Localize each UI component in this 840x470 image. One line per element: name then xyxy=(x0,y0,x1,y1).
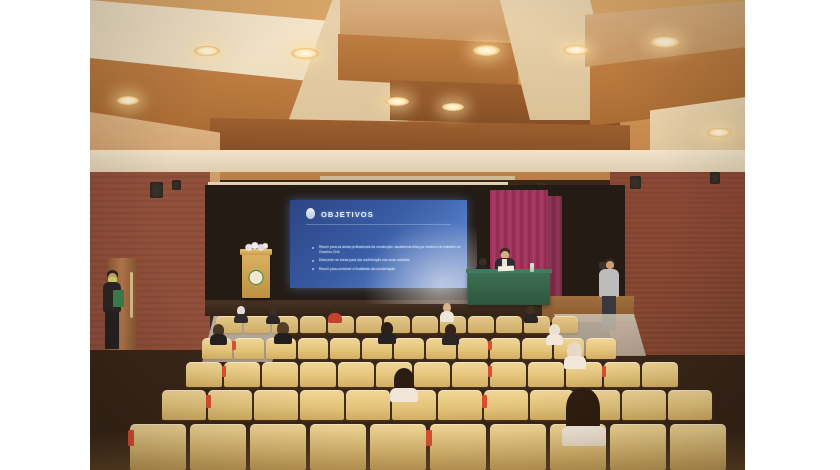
attendee-torso xyxy=(210,334,227,345)
seat[interactable] xyxy=(642,362,678,387)
seat-number-tab xyxy=(206,395,211,408)
seat[interactable] xyxy=(300,362,336,387)
seat[interactable] xyxy=(300,316,326,333)
slide-bullet: Reunir para as áreas profissionais da co… xyxy=(312,245,462,254)
attendee xyxy=(274,322,292,342)
ceiling-light-4 xyxy=(385,97,409,106)
attendee-torso xyxy=(564,356,586,369)
attendee xyxy=(564,342,586,366)
attendee xyxy=(210,324,227,342)
attendee-torso xyxy=(390,388,418,402)
seat[interactable] xyxy=(224,362,260,387)
photographer-head xyxy=(606,261,614,269)
lectern-emblem xyxy=(249,270,264,285)
seat[interactable] xyxy=(490,338,520,359)
seat[interactable] xyxy=(330,338,360,359)
attendee xyxy=(442,324,459,342)
wall-speaker-left xyxy=(150,182,163,198)
water-bottle xyxy=(530,263,534,272)
projection-screen: OBJETIVOS Reunir para as áreas profissio… xyxy=(290,200,467,288)
seat[interactable] xyxy=(622,390,666,420)
wall-speaker-right-2 xyxy=(630,176,641,189)
truss-rail-secondary xyxy=(320,176,515,180)
door-handle-left[interactable] xyxy=(130,272,133,318)
attendee-torso xyxy=(546,334,563,345)
slide-bullet: Reunir para conhecer a finalidade da coo… xyxy=(312,267,462,272)
ceiling-light-2 xyxy=(194,46,220,56)
foreground-floor-shadow xyxy=(90,430,745,470)
ceiling-light-7 xyxy=(563,45,589,55)
attendee-torso xyxy=(234,314,248,323)
seat[interactable] xyxy=(162,390,206,420)
seat[interactable] xyxy=(298,338,328,359)
ceiling-light-9 xyxy=(707,128,731,137)
seat[interactable] xyxy=(346,390,390,420)
seat-number-tab xyxy=(602,366,606,377)
seat[interactable] xyxy=(528,362,564,387)
wall-speaker-right-3 xyxy=(710,172,720,184)
seat[interactable] xyxy=(468,316,494,333)
lectern xyxy=(242,252,270,298)
attendee-torso xyxy=(328,313,342,323)
attendee xyxy=(378,322,396,342)
attendee-legs xyxy=(105,311,119,349)
attendee xyxy=(440,303,454,320)
green-folder xyxy=(113,290,124,307)
seat[interactable] xyxy=(208,390,252,420)
seat-number-tab xyxy=(232,341,236,350)
attendee xyxy=(328,305,342,321)
ceiling-light-6 xyxy=(473,45,500,56)
screenshot-root: OBJETIVOS Reunir para as áreas profissio… xyxy=(0,0,840,470)
seat[interactable] xyxy=(668,390,712,420)
attendee xyxy=(266,307,280,321)
upper-wall-band xyxy=(90,150,745,172)
attendee xyxy=(524,306,538,321)
seat[interactable] xyxy=(414,362,450,387)
seat-number-tab xyxy=(482,395,487,408)
seat-number-tab xyxy=(222,366,226,377)
attendee-torso xyxy=(274,333,292,344)
masked-attendee-by-door xyxy=(100,270,124,354)
slide-bullet: Descrever as áreas para dar contribuição… xyxy=(312,258,462,263)
ceiling-light-8 xyxy=(650,36,680,48)
table-papers xyxy=(498,266,514,272)
seat[interactable] xyxy=(394,338,424,359)
seat[interactable] xyxy=(496,316,522,333)
seat[interactable] xyxy=(458,338,488,359)
auditorium-photograph: OBJETIVOS Reunir para as áreas profissio… xyxy=(90,0,745,470)
seat[interactable] xyxy=(452,362,488,387)
attendee xyxy=(390,368,418,398)
slide-bullet-list: Reunir para as áreas profissionais da co… xyxy=(312,245,462,275)
attendee-torso xyxy=(440,311,454,322)
head-table xyxy=(468,272,550,305)
photographer-torso xyxy=(599,269,619,297)
ceiling-light-5 xyxy=(442,103,464,111)
seat[interactable] xyxy=(234,338,264,359)
seat-number-tab xyxy=(488,366,492,377)
ceiling-light-1 xyxy=(117,96,139,105)
seat[interactable] xyxy=(484,390,528,420)
seat[interactable] xyxy=(490,362,526,387)
wall-speaker-left-2 xyxy=(172,180,181,190)
attendee-torso xyxy=(442,334,459,345)
slide-title: OBJETIVOS xyxy=(321,210,374,219)
seat[interactable] xyxy=(412,316,438,333)
seat[interactable] xyxy=(254,390,298,420)
seat[interactable] xyxy=(300,390,344,420)
camera-icon xyxy=(599,262,606,269)
seat[interactable] xyxy=(586,338,616,359)
seat[interactable] xyxy=(438,390,482,420)
attendee xyxy=(546,324,563,342)
seat[interactable] xyxy=(186,362,222,387)
slide-logo-icon xyxy=(306,208,315,219)
seat[interactable] xyxy=(262,362,298,387)
attendee xyxy=(234,306,248,320)
slide-divider xyxy=(306,224,451,225)
ceiling-light-3 xyxy=(291,48,319,59)
seat[interactable] xyxy=(338,362,374,387)
attendee-torso xyxy=(378,333,396,344)
seat[interactable] xyxy=(604,362,640,387)
seat-number-tab xyxy=(488,341,492,350)
flower-arrangement xyxy=(244,242,268,251)
attendee-torso xyxy=(524,314,538,323)
